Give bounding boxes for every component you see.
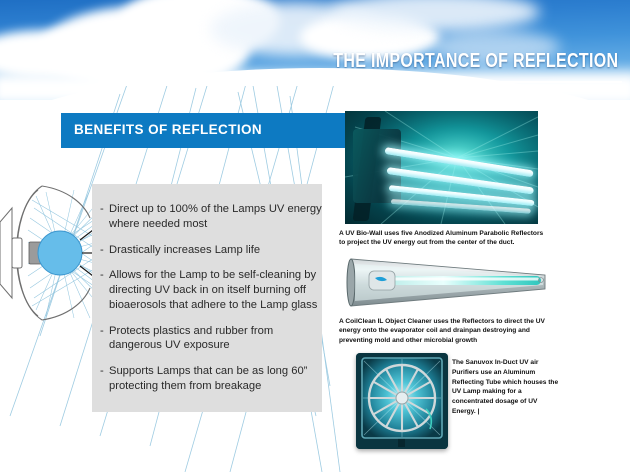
slide-root: THE IMPORTANCE OF REFLECTION BENEFITS OF… xyxy=(0,0,630,472)
fan-hub xyxy=(396,392,408,404)
section-banner: BENEFITS OF REFLECTION xyxy=(61,113,345,148)
bullet-text: Drastically increases Lamp life xyxy=(109,243,322,258)
reflector-end-cap xyxy=(347,259,355,306)
in-duct-fan-graphic xyxy=(356,353,448,449)
benefits-list: - Direct up to 100% of the Lamps UV ener… xyxy=(100,202,322,405)
figure-caption-bio-wall: A UV Bio-Wall uses five Anodized Aluminu… xyxy=(339,229,544,248)
mount-post xyxy=(398,438,405,447)
uv-tube-highlight xyxy=(393,278,539,281)
list-item: - Direct up to 100% of the Lamps UV ener… xyxy=(100,202,322,232)
list-item: - Drastically increases Lamp life xyxy=(100,243,322,258)
bullet-dash: - xyxy=(100,364,109,394)
coilclean-il-lamp-photo xyxy=(345,255,550,310)
reflector-bottom-lip xyxy=(42,288,90,320)
bullet-dash: - xyxy=(100,268,109,312)
bullet-text: Direct up to 100% of the Lamps UV energy… xyxy=(109,202,322,232)
bullet-text: Supports Lamps that can be as long 60” p… xyxy=(109,364,322,394)
figure-caption-in-duct: The Sanuvox In-Duct UV air Purifiers use… xyxy=(452,358,562,417)
bullet-dash: - xyxy=(100,202,109,232)
reflector-top-lip xyxy=(42,186,90,218)
uv-bio-wall-photo xyxy=(345,111,538,224)
reflector-bracket-slot xyxy=(12,238,22,268)
figure-caption-coilclean: A CoilClean IL Object Cleaner uses the R… xyxy=(339,317,551,345)
sanuvox-in-duct-purifier-photo xyxy=(356,353,448,449)
section-banner-title: BENEFITS OF REFLECTION xyxy=(74,122,262,137)
header-banner: THE IMPORTANCE OF REFLECTION xyxy=(0,0,630,100)
uv-lamp-bulb xyxy=(38,231,82,275)
bullet-dash: - xyxy=(100,243,109,258)
reflector-mount-bracket xyxy=(0,208,12,298)
list-item: - Protects plastics and rubber from dang… xyxy=(100,324,322,354)
list-item: - Allows for the Lamp to be self-cleanin… xyxy=(100,268,322,312)
bullet-dash: - xyxy=(100,324,109,354)
bullet-text: Allows for the Lamp to be self-cleaning … xyxy=(109,268,322,312)
lamp-housing xyxy=(353,129,401,203)
list-item: - Supports Lamps that can be as long 60”… xyxy=(100,364,322,394)
bullet-text: Protects plastics and rubber from danger… xyxy=(109,324,322,354)
